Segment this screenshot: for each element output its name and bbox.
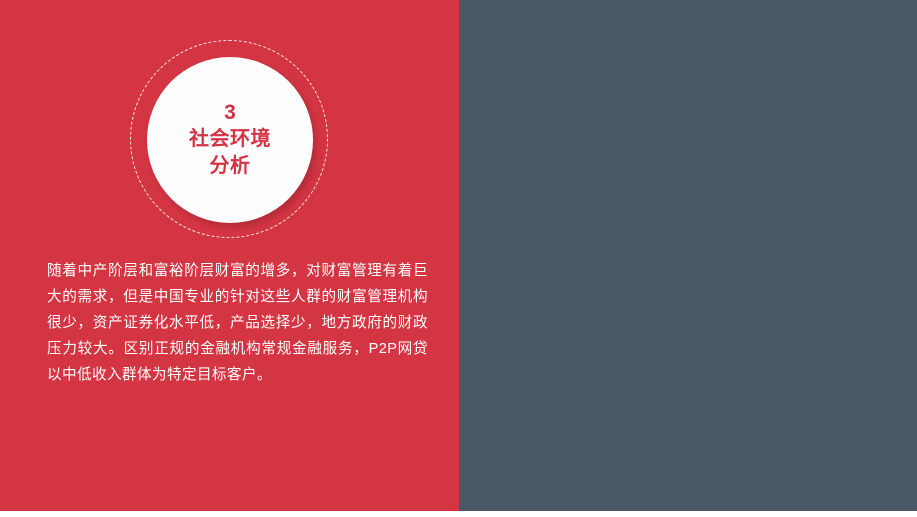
badge-title-line-1: 社会环境 <box>189 126 271 152</box>
body-text-social-environment: 随着中产阶层和富裕阶层财富的增多，对财富管理有着巨大的需求，但是中国专业的针对这… <box>47 258 428 388</box>
badge-title-line-2: 分析 <box>210 153 251 179</box>
slide-canvas: 3 社会环境 分析 随着中产阶层和富裕阶层财富的增多，对财富管理有着巨大的需求，… <box>0 0 917 517</box>
badge-social-environment[interactable]: 3 社会环境 分析 <box>130 40 330 240</box>
bottom-margin-strip <box>0 511 917 517</box>
badge-disc[interactable]: 3 社会环境 分析 <box>147 57 313 223</box>
panel-technology-environment: 4 技术环境 分析 以互联网为代表的信息技术革命不断升级，社交网络、电子商务、第… <box>459 0 917 511</box>
badge-number: 3 <box>224 101 236 125</box>
panel-social-environment: 3 社会环境 分析 随着中产阶层和富裕阶层财富的增多，对财富管理有着巨大的需求，… <box>0 0 459 511</box>
